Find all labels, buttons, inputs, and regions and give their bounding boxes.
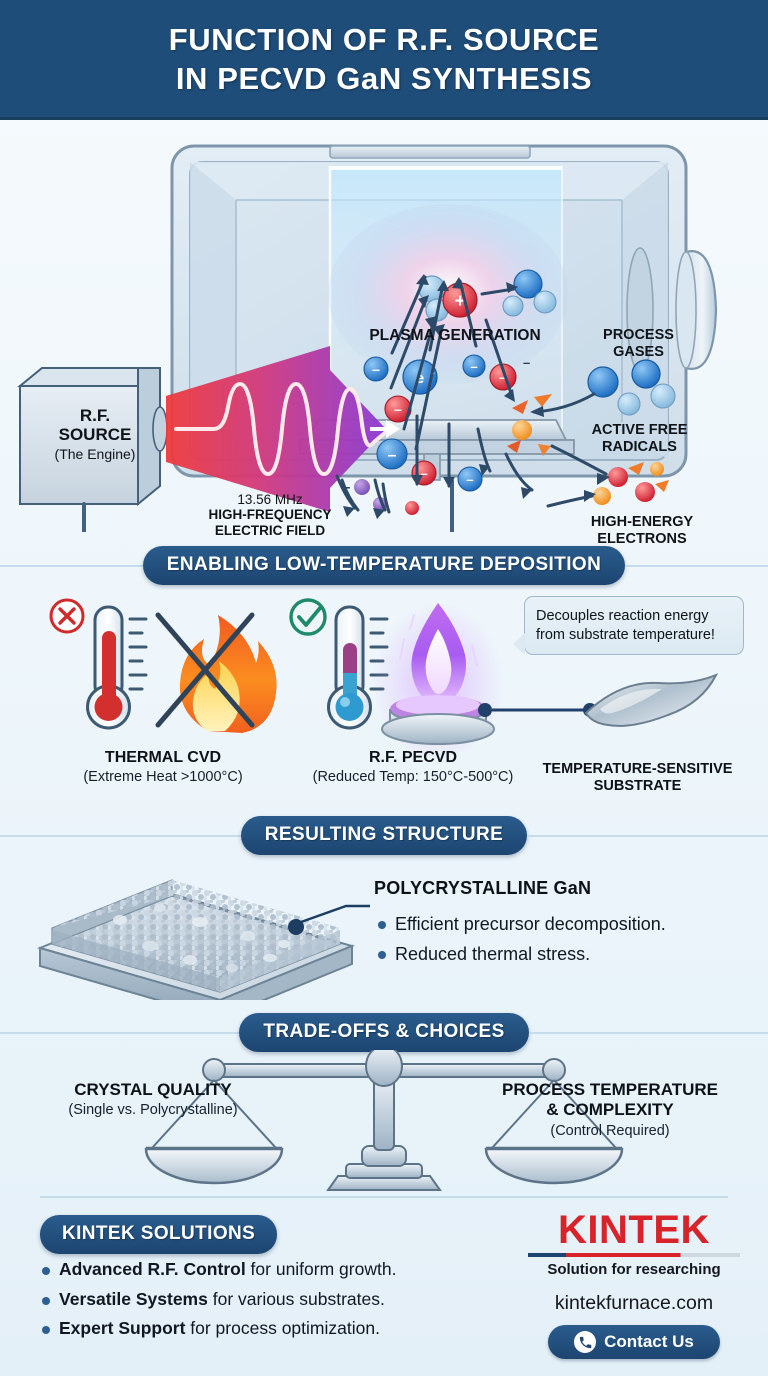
- svg-text:–: –: [394, 401, 402, 417]
- section-pill-lowtemp: ENABLING LOW-TEMPERATURE DEPOSITION: [143, 546, 625, 585]
- connector-dot-left: [478, 703, 492, 717]
- substrate-line2: SUBSTRATE: [530, 778, 745, 795]
- process-temp-line2: & COMPLEXITY: [470, 1100, 750, 1120]
- section-header-lowtemp: ENABLING LOW-TEMPERATURE DEPOSITION: [0, 546, 768, 585]
- svg-text:–: –: [523, 355, 530, 370]
- substrate-line1: TEMPERATURE-SENSITIVE: [530, 761, 745, 778]
- caption-substrate: TEMPERATURE-SENSITIVE SUBSTRATE: [530, 761, 745, 796]
- flexible-substrate-icon: [586, 675, 716, 726]
- plasma-flame-icon: [372, 593, 504, 757]
- rf-source-line1: R.F.: [80, 406, 110, 425]
- electrons-line2: ELECTRONS: [597, 531, 686, 547]
- active-free-radicals-label: ACTIVE FREE RADICALS: [572, 422, 707, 455]
- svg-text:–: –: [466, 472, 473, 487]
- process-temp-subtitle: (Control Required): [470, 1123, 750, 1140]
- kintek-logo-wordmark: KINTEK: [524, 1210, 744, 1250]
- bullet-dot-icon: [42, 1297, 50, 1305]
- thermal-cvd-title: THERMAL CVD: [38, 748, 288, 767]
- kintek-bullet-3-bold: Expert Support: [59, 1318, 185, 1338]
- contact-us-label: Contact Us: [604, 1332, 694, 1352]
- list-item: Expert Support for process optimization.: [42, 1317, 522, 1341]
- section-header-tradeoffs: TRADE-OFFS & CHOICES: [0, 1013, 768, 1052]
- process-gases-line1: PROCESS: [603, 327, 674, 343]
- top-electrode: [330, 146, 530, 158]
- bullet-dot-icon: [42, 1267, 50, 1275]
- crystal-quality-subtitle: (Single vs. Polycrystalline): [28, 1102, 278, 1119]
- thermal-cvd-subtitle: (Extreme Heat >1000°C): [38, 769, 288, 786]
- structure-bullet-2: Reduced thermal stress.: [395, 942, 590, 966]
- rf-pecvd-subtitle: (Reduced Temp: 150°C-500°C): [288, 769, 538, 786]
- list-item: Efficient precursor decomposition.: [378, 912, 738, 936]
- bullet-dot-icon: [42, 1326, 50, 1334]
- caption-process-temperature: PROCESS TEMPERATURE & COMPLEXITY (Contro…: [470, 1080, 750, 1140]
- section-pill-tradeoffs: TRADE-OFFS & CHOICES: [239, 1013, 528, 1052]
- callout-bubble: Decouples reaction energy from substrate…: [524, 596, 744, 655]
- process-gases-label: PROCESS GASES: [576, 327, 701, 360]
- process-temp-line1: PROCESS TEMPERATURE: [470, 1080, 750, 1100]
- kintek-bullet-2-bold: Versatile Systems: [59, 1289, 208, 1309]
- brand-website-url: kintekfurnace.com: [524, 1292, 744, 1315]
- kintek-bullet-3-rest: for process optimization.: [185, 1318, 380, 1338]
- infographic-page: FUNCTION OF R.F. SOURCE IN PECVD GaN SYN…: [0, 0, 768, 1376]
- process-gases-line2: GASES: [613, 344, 664, 360]
- bullet-dot-icon: [378, 951, 386, 959]
- divider-right: [527, 835, 768, 837]
- tradeoffs-section: CRYSTAL QUALITY (Single vs. Polycrystall…: [0, 1050, 768, 1200]
- structure-bullet-1: Efficient precursor decomposition.: [395, 912, 666, 936]
- divider-left: [0, 835, 241, 837]
- svg-text:–: –: [372, 361, 380, 377]
- kintek-bullet-1-bold: Advanced R.F. Control: [59, 1259, 246, 1279]
- rf-source-line2: SOURCE: [59, 425, 132, 444]
- pecvd-chamber-diagram: + e - – – – – – – – –: [0, 124, 768, 532]
- lowtemp-deposition-section: Decouples reaction energy from substrate…: [0, 585, 768, 800]
- divider-right: [625, 565, 768, 567]
- kintek-solutions-pill: KINTEK SOLUTIONS: [40, 1215, 277, 1254]
- structure-bullet-list: Efficient precursor decomposition. Reduc…: [378, 912, 738, 973]
- caption-thermal-cvd: THERMAL CVD (Extreme Heat >1000°C): [38, 748, 288, 787]
- page-header: FUNCTION OF R.F. SOURCE IN PECVD GaN SYN…: [0, 0, 768, 120]
- check-circle-icon: [291, 600, 325, 634]
- phone-icon: [574, 1331, 596, 1353]
- brand-block: KINTEK Solution for researching kintekfu…: [524, 1210, 744, 1359]
- svg-text:–: –: [388, 447, 397, 464]
- resulting-structure-section: POLYCRYSTALLINE GaN Efficient precursor …: [0, 850, 768, 1000]
- kintek-bullet-2-rest: for various substrates.: [208, 1289, 385, 1309]
- svg-text:–: –: [470, 359, 477, 374]
- rf-source-subtitle: (The Engine): [30, 447, 160, 463]
- divider-right: [529, 1032, 768, 1034]
- divider-left: [0, 565, 143, 567]
- rf-pecvd-title: R.F. PECVD: [288, 748, 538, 767]
- electrons-line1: HIGH-ENERGY: [591, 514, 693, 530]
- list-item: Versatile Systems for various substrates…: [42, 1288, 522, 1312]
- caption-crystal-quality: CRYSTAL QUALITY (Single vs. Polycrystall…: [28, 1080, 278, 1120]
- rf-source-label: R.F. SOURCE (The Engine): [30, 406, 160, 463]
- caption-rf-pecvd: R.F. PECVD (Reduced Temp: 150°C-500°C): [288, 748, 538, 787]
- page-title-line-2: IN PECVD GaN SYNTHESIS: [176, 59, 592, 98]
- crystal-quality-title: CRYSTAL QUALITY: [28, 1080, 278, 1100]
- bullet-dot-icon: [378, 921, 386, 929]
- plasma-generation-label: PLASMA GENERATION: [345, 327, 565, 345]
- divider-left: [0, 1032, 239, 1034]
- flame-icon: [180, 615, 277, 733]
- cross-circle-icon: [51, 600, 83, 632]
- brand-tagline: Solution for researching: [524, 1261, 744, 1278]
- radicals-line1: ACTIVE FREE: [592, 422, 688, 438]
- radicals-line2: RADICALS: [602, 439, 677, 455]
- high-energy-electrons-label: HIGH-ENERGY ELECTRONS: [572, 514, 712, 547]
- kintek-bullet-1-rest: for uniform growth.: [246, 1259, 397, 1279]
- contact-us-button[interactable]: Contact Us: [548, 1325, 720, 1359]
- polycrystalline-title: POLYCRYSTALLINE GaN: [374, 878, 591, 899]
- field-line3: ELECTRIC FIELD: [215, 523, 325, 538]
- list-item: Reduced thermal stress.: [378, 942, 738, 966]
- page-title-line-1: FUNCTION OF R.F. SOURCE: [169, 20, 600, 59]
- frequency-value: 13.56 MHz: [237, 492, 302, 507]
- thermometer-hot-icon: [88, 607, 147, 728]
- footer-section: KINTEK SOLUTIONS Advanced R.F. Control f…: [0, 1196, 768, 1376]
- electric-field-label: 13.56 MHz HIGH-FREQUENCY ELECTRIC FIELD: [180, 492, 360, 538]
- list-item: Advanced R.F. Control for uniform growth…: [42, 1258, 522, 1282]
- kintek-bullet-list: Advanced R.F. Control for uniform growth…: [42, 1258, 522, 1347]
- logo-underline: [528, 1253, 740, 1257]
- field-line2: HIGH-FREQUENCY: [208, 507, 331, 522]
